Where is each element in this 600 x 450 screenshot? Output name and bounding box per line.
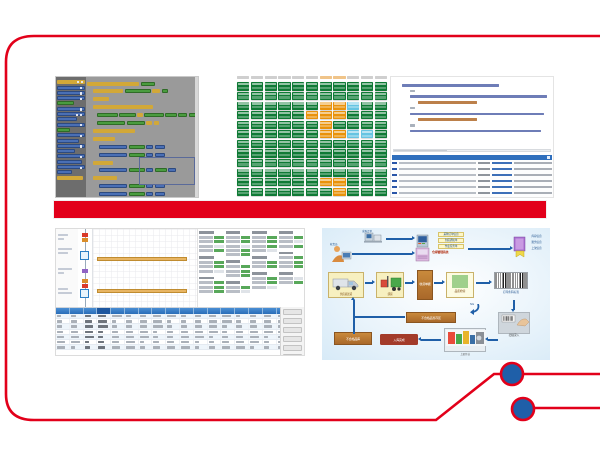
node-supplier-delivery[interactable]: 供应商送货 (328, 272, 364, 298)
node-warehouse-staff[interactable] (328, 244, 354, 264)
records-data-grid[interactable] (56, 307, 304, 356)
panel-button[interactable] (283, 345, 302, 351)
status-cell[interactable] (361, 188, 373, 196)
status-cell[interactable] (292, 121, 304, 129)
node-receiving-doc[interactable]: 收货单据 (417, 270, 433, 300)
status-cell[interactable] (306, 169, 318, 177)
node-barcode-print[interactable]: 打印条码标签 (494, 272, 528, 298)
status-cell[interactable] (278, 140, 290, 148)
table-cell[interactable] (56, 340, 70, 344)
status-cell[interactable] (320, 92, 332, 100)
table-cell[interactable] (56, 324, 70, 328)
block-statement[interactable] (93, 96, 197, 103)
status-cell[interactable] (375, 159, 387, 167)
status-cell[interactable] (237, 102, 249, 110)
table-cell[interactable] (180, 345, 194, 349)
table-cell[interactable] (139, 330, 153, 334)
table-cell[interactable] (180, 340, 194, 344)
status-cell[interactable] (333, 169, 345, 177)
node-inspection[interactable]: 品质检验 (446, 272, 474, 298)
block-statement[interactable] (99, 143, 197, 150)
status-cell[interactable] (375, 169, 387, 177)
table-cell[interactable] (221, 335, 235, 339)
status-cell[interactable] (306, 188, 318, 196)
status-cell[interactable] (320, 82, 332, 90)
status-cell[interactable] (251, 121, 263, 129)
status-cell[interactable] (361, 169, 373, 177)
code-text-area[interactable] (391, 77, 553, 153)
status-cell[interactable] (375, 140, 387, 148)
status-cell[interactable] (375, 111, 387, 119)
table-cell[interactable] (111, 340, 125, 344)
status-cell[interactable] (251, 159, 263, 167)
table-cell[interactable] (221, 340, 235, 344)
table-cell[interactable] (263, 324, 277, 328)
status-cell[interactable] (361, 140, 373, 148)
status-cell[interactable] (361, 92, 373, 100)
table-cell[interactable] (152, 314, 166, 318)
table-cell[interactable] (139, 335, 153, 339)
table-cell[interactable] (111, 319, 125, 323)
table-cell[interactable] (84, 319, 98, 323)
status-cell[interactable] (306, 82, 318, 90)
table-cell[interactable] (84, 340, 98, 344)
status-cell[interactable] (361, 178, 373, 186)
status-cell[interactable] (278, 102, 290, 110)
table-cell[interactable] (235, 324, 249, 328)
node-nonconforming-area[interactable]: 不合格品暂存区 (406, 312, 456, 323)
table-cell[interactable] (70, 314, 84, 318)
table-cell[interactable] (70, 345, 84, 349)
table-cell[interactable] (249, 335, 263, 339)
status-cell[interactable] (251, 188, 263, 196)
status-cell[interactable] (306, 140, 318, 148)
table-cell[interactable] (97, 324, 111, 328)
status-cell[interactable] (237, 178, 249, 186)
status-cell[interactable] (333, 149, 345, 157)
table-cell[interactable] (180, 335, 194, 339)
table-cell[interactable] (139, 324, 153, 328)
table-cell[interactable] (70, 330, 84, 334)
table-cell[interactable] (194, 330, 208, 334)
status-cell[interactable] (375, 121, 387, 129)
status-cell[interactable] (265, 178, 277, 186)
status-cell[interactable] (361, 121, 373, 129)
table-row[interactable] (56, 345, 304, 350)
table-cell[interactable] (235, 330, 249, 334)
status-cell[interactable] (333, 82, 345, 90)
table-cell[interactable] (111, 324, 125, 328)
status-cell[interactable] (347, 188, 359, 196)
data-grid-body[interactable] (56, 314, 304, 350)
table-cell[interactable] (152, 340, 166, 344)
status-cell[interactable] (320, 188, 332, 196)
status-cell[interactable] (333, 140, 345, 148)
palette-block-event[interactable] (57, 80, 85, 84)
table-cell[interactable] (180, 319, 194, 323)
block-statement[interactable] (93, 104, 197, 111)
status-cell[interactable] (333, 159, 345, 167)
status-cell[interactable] (237, 92, 249, 100)
table-cell[interactable] (221, 330, 235, 334)
status-cell[interactable] (375, 92, 387, 100)
palette-block-logic[interactable] (57, 165, 85, 169)
table-cell[interactable] (221, 345, 235, 349)
table-cell[interactable] (166, 335, 180, 339)
table-cell[interactable] (97, 345, 111, 349)
status-cell[interactable] (265, 111, 277, 119)
node-barcode-scan[interactable]: 扫描录入 (498, 312, 530, 334)
panel-button[interactable] (283, 336, 302, 342)
status-cell[interactable] (265, 149, 277, 157)
table-cell[interactable] (166, 340, 180, 344)
table-cell[interactable] (125, 340, 139, 344)
status-cell[interactable] (347, 92, 359, 100)
table-cell[interactable] (125, 314, 139, 318)
console-log-row[interactable] (392, 197, 552, 198)
table-cell[interactable] (166, 345, 180, 349)
status-cell[interactable] (375, 178, 387, 186)
table-cell[interactable] (235, 319, 249, 323)
table-cell[interactable] (70, 324, 84, 328)
table-cell[interactable] (194, 319, 208, 323)
table-cell[interactable] (208, 345, 222, 349)
status-cell[interactable] (347, 149, 359, 157)
status-cell[interactable] (292, 140, 304, 148)
table-cell[interactable] (70, 319, 84, 323)
table-cell[interactable] (221, 324, 235, 328)
sheet-button-panel[interactable] (280, 307, 304, 355)
status-cell[interactable] (292, 169, 304, 177)
table-cell[interactable] (194, 324, 208, 328)
table-cell[interactable] (263, 335, 277, 339)
status-cell[interactable] (278, 130, 290, 138)
table-cell[interactable] (125, 330, 139, 334)
code-editor-screenshot[interactable] (390, 76, 554, 198)
table-cell[interactable] (56, 330, 70, 334)
table-cell[interactable] (208, 314, 222, 318)
table-cell[interactable] (208, 335, 222, 339)
palette-block-logic[interactable] (57, 123, 85, 127)
table-cell[interactable] (263, 330, 277, 334)
panel-button[interactable] (283, 309, 302, 315)
status-cell[interactable] (333, 111, 345, 119)
status-cell[interactable] (292, 111, 304, 119)
table-cell[interactable] (152, 330, 166, 334)
table-cell[interactable] (221, 319, 235, 323)
status-cell[interactable] (333, 188, 345, 196)
table-cell[interactable] (263, 345, 277, 349)
table-cell[interactable] (194, 314, 208, 318)
table-cell[interactable] (97, 335, 111, 339)
status-cell[interactable] (278, 169, 290, 177)
status-cell[interactable] (361, 82, 373, 90)
status-cell[interactable] (375, 130, 387, 138)
status-cell[interactable] (333, 102, 345, 110)
table-cell[interactable] (139, 345, 153, 349)
console-log-row[interactable] (392, 167, 552, 171)
status-cell[interactable] (251, 130, 263, 138)
status-cell[interactable] (292, 178, 304, 186)
palette-block-logic[interactable] (57, 86, 85, 90)
block-statement[interactable] (93, 136, 197, 143)
status-grid-screenshot[interactable] (236, 76, 388, 198)
status-cell[interactable] (320, 169, 332, 177)
status-cell[interactable] (278, 92, 290, 100)
console-log-row[interactable] (392, 185, 552, 189)
node-unload[interactable]: 卸货 (376, 272, 404, 298)
palette-block-logic[interactable] (57, 133, 85, 137)
status-cell[interactable] (278, 149, 290, 157)
status-cell[interactable] (265, 140, 277, 148)
table-cell[interactable] (180, 330, 194, 334)
table-cell[interactable] (166, 314, 180, 318)
sheet-detail-tables[interactable] (197, 229, 304, 307)
status-cell[interactable] (265, 102, 277, 110)
palette-block-logic[interactable] (57, 160, 82, 164)
table-cell[interactable] (139, 340, 153, 344)
status-cell[interactable] (251, 149, 263, 157)
table-cell[interactable] (166, 319, 180, 323)
status-cell[interactable] (306, 159, 318, 167)
table-cell[interactable] (208, 324, 222, 328)
logistics-flow-diagram[interactable]: 采购订单 收货员 采购订单信息 到货通知单 作业任 (322, 228, 550, 360)
palette-block-logic[interactable] (57, 170, 72, 174)
block-editor-screenshot[interactable] (55, 76, 199, 198)
block-statement[interactable] (93, 128, 197, 135)
status-cell[interactable] (320, 102, 332, 110)
table-cell[interactable] (84, 345, 98, 349)
status-cell[interactable] (347, 178, 359, 186)
status-cell[interactable] (278, 178, 290, 186)
status-cell[interactable] (292, 188, 304, 196)
table-cell[interactable] (111, 314, 125, 318)
table-cell[interactable] (139, 319, 153, 323)
block-statement[interactable] (93, 88, 197, 95)
status-cell[interactable] (292, 130, 304, 138)
status-cell[interactable] (292, 92, 304, 100)
block-statement[interactable] (99, 191, 197, 197)
palette-block-logic[interactable] (57, 139, 79, 143)
status-cell[interactable] (306, 130, 318, 138)
table-cell[interactable] (249, 345, 263, 349)
table-cell[interactable] (166, 330, 180, 334)
table-cell[interactable] (56, 335, 70, 339)
block-statement[interactable] (97, 112, 197, 119)
status-cell[interactable] (251, 178, 263, 186)
status-cell[interactable] (375, 82, 387, 90)
status-cell[interactable] (347, 169, 359, 177)
status-cell[interactable] (306, 111, 318, 119)
panel-button[interactable] (283, 318, 302, 324)
table-cell[interactable] (70, 340, 84, 344)
status-cell[interactable] (361, 130, 373, 138)
status-cell[interactable] (237, 169, 249, 177)
status-cell[interactable] (237, 121, 249, 129)
block-palette[interactable] (56, 77, 86, 197)
palette-block-logic[interactable] (57, 149, 75, 153)
status-cell[interactable] (278, 82, 290, 90)
gantt-node[interactable] (80, 289, 89, 298)
status-cell[interactable] (361, 159, 373, 167)
table-cell[interactable] (111, 335, 125, 339)
console-title-bar[interactable] (392, 155, 552, 160)
table-cell[interactable] (235, 345, 249, 349)
table-cell[interactable] (56, 319, 70, 323)
table-cell[interactable] (97, 319, 111, 323)
palette-block-logic[interactable] (57, 91, 85, 95)
console-log-row[interactable] (392, 191, 552, 195)
status-cell[interactable] (251, 169, 263, 177)
status-cell[interactable] (237, 82, 249, 90)
palette-block-logic[interactable] (57, 144, 85, 148)
block-statement[interactable] (87, 80, 197, 87)
table-cell[interactable] (235, 340, 249, 344)
table-cell[interactable] (180, 324, 194, 328)
status-cell[interactable] (320, 111, 332, 119)
gantt-node-rail[interactable] (78, 229, 92, 307)
table-cell[interactable] (194, 340, 208, 344)
table-cell[interactable] (84, 314, 98, 318)
table-cell[interactable] (208, 330, 222, 334)
table-cell[interactable] (56, 314, 70, 318)
table-cell[interactable] (208, 340, 222, 344)
table-cell[interactable] (152, 324, 166, 328)
node-order-system[interactable] (362, 231, 386, 245)
console-log-row[interactable] (392, 179, 552, 183)
table-cell[interactable] (125, 319, 139, 323)
gantt-node[interactable] (80, 251, 89, 260)
table-cell[interactable] (111, 330, 125, 334)
code-horizontal-scrollbar[interactable] (393, 149, 551, 152)
status-cell[interactable] (375, 149, 387, 157)
status-cell[interactable] (375, 188, 387, 196)
status-cell[interactable] (361, 111, 373, 119)
gantt-bar[interactable] (97, 257, 187, 261)
table-cell[interactable] (125, 345, 139, 349)
table-cell[interactable] (152, 345, 166, 349)
status-cell[interactable] (237, 111, 249, 119)
table-cell[interactable] (194, 335, 208, 339)
status-cell[interactable] (306, 178, 318, 186)
status-cell[interactable] (265, 130, 277, 138)
table-cell[interactable] (97, 330, 111, 334)
palette-block-logic[interactable] (57, 96, 85, 100)
canvas-scrollbar[interactable] (195, 77, 198, 197)
console-log-row[interactable] (392, 173, 552, 177)
status-cell[interactable] (237, 149, 249, 157)
palette-block-logic[interactable] (57, 154, 85, 158)
status-cell[interactable] (265, 82, 277, 90)
status-cell[interactable] (278, 159, 290, 167)
status-cell[interactable] (237, 188, 249, 196)
status-cell[interactable] (361, 149, 373, 157)
status-cell[interactable] (333, 178, 345, 186)
status-cell[interactable] (320, 159, 332, 167)
panel-button[interactable] (283, 327, 302, 333)
table-cell[interactable] (84, 335, 98, 339)
status-cell[interactable] (251, 102, 263, 110)
status-cell[interactable] (333, 121, 345, 129)
status-cell[interactable] (306, 149, 318, 157)
status-cell[interactable] (347, 159, 359, 167)
status-cell[interactable] (237, 140, 249, 148)
status-cell-grid[interactable] (236, 80, 388, 198)
status-cell[interactable] (292, 102, 304, 110)
node-inbound-complete[interactable]: 入库完成 (380, 334, 418, 345)
table-cell[interactable] (249, 340, 263, 344)
status-cell[interactable] (251, 111, 263, 119)
status-cell[interactable] (320, 121, 332, 129)
status-cell[interactable] (347, 130, 359, 138)
status-cell[interactable] (375, 102, 387, 110)
status-cell[interactable] (265, 159, 277, 167)
status-cell[interactable] (320, 178, 332, 186)
table-cell[interactable] (152, 335, 166, 339)
status-cell[interactable] (306, 92, 318, 100)
status-cell[interactable] (278, 188, 290, 196)
table-cell[interactable] (249, 330, 263, 334)
status-cell[interactable] (251, 82, 263, 90)
table-cell[interactable] (249, 324, 263, 328)
status-cell[interactable] (265, 188, 277, 196)
status-cell[interactable] (251, 92, 263, 100)
status-cell[interactable] (361, 102, 373, 110)
block-statement[interactable] (97, 120, 197, 127)
palette-block-logic[interactable] (57, 117, 77, 121)
table-cell[interactable] (139, 314, 153, 318)
table-cell[interactable] (208, 319, 222, 323)
status-cell[interactable] (347, 102, 359, 110)
table-cell[interactable] (97, 340, 111, 344)
status-cell[interactable] (237, 130, 249, 138)
status-cell[interactable] (333, 92, 345, 100)
table-cell[interactable] (235, 335, 249, 339)
node-putaway[interactable]: 上架作业 (444, 328, 486, 352)
status-cell[interactable] (251, 140, 263, 148)
table-cell[interactable] (221, 314, 235, 318)
scheduling-sheet-screenshot[interactable] (55, 228, 305, 356)
table-cell[interactable] (84, 324, 98, 328)
palette-block-event[interactable] (57, 176, 83, 180)
status-cell[interactable] (292, 149, 304, 157)
status-cell[interactable] (333, 130, 345, 138)
table-cell[interactable] (152, 319, 166, 323)
palette-block-value[interactable] (57, 101, 74, 105)
table-cell[interactable] (111, 345, 125, 349)
status-cell[interactable] (347, 82, 359, 90)
table-cell[interactable] (263, 319, 277, 323)
status-cell[interactable] (320, 149, 332, 157)
gantt-bar[interactable] (97, 289, 187, 293)
status-cell[interactable] (320, 130, 332, 138)
table-cell[interactable] (249, 319, 263, 323)
status-cell[interactable] (347, 121, 359, 129)
palette-block-logic[interactable] (57, 112, 85, 116)
status-cell[interactable] (278, 111, 290, 119)
palette-block-value[interactable] (57, 128, 70, 132)
palette-block-logic[interactable] (57, 107, 85, 111)
table-cell[interactable] (194, 345, 208, 349)
gantt-timeline[interactable] (92, 229, 197, 307)
table-cell[interactable] (263, 340, 277, 344)
table-cell[interactable] (125, 335, 139, 339)
status-cell[interactable] (265, 92, 277, 100)
status-cell[interactable] (306, 102, 318, 110)
console-log-row[interactable] (392, 161, 552, 165)
status-cell[interactable] (292, 159, 304, 167)
status-cell[interactable] (265, 121, 277, 129)
